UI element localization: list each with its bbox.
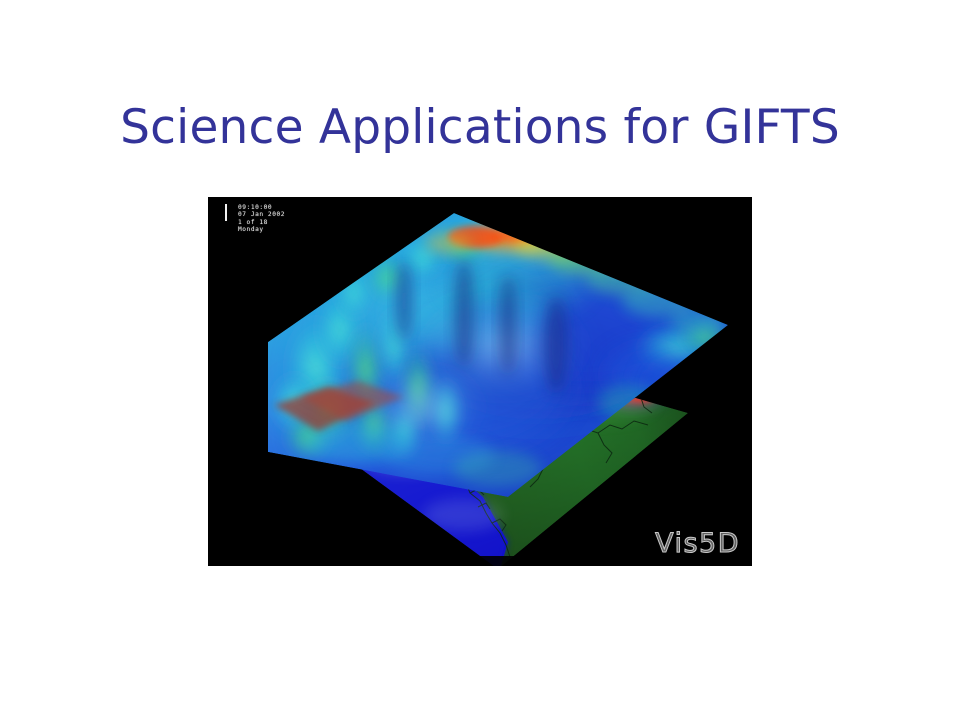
cloud-volume bbox=[268, 213, 736, 497]
vis5d-visualization-image: 09:10:00 07 Jan 2002 1 of 18 Monday Vis5… bbox=[208, 197, 752, 566]
cloud-shadow-seams bbox=[396, 259, 568, 393]
terrain-cross-section bbox=[274, 381, 404, 431]
overlay-weekday: Monday bbox=[238, 226, 285, 233]
timestamp-overlay: 09:10:00 07 Jan 2002 1 of 18 Monday bbox=[238, 204, 285, 234]
cloud-streaks-cyan bbox=[268, 227, 490, 463]
cloud-front-face bbox=[304, 423, 542, 487]
page-title: Science Applications for GIFTS bbox=[0, 104, 960, 151]
terrain-ground-plane bbox=[274, 349, 688, 566]
overlay-date: 07 Jan 2002 bbox=[238, 211, 285, 218]
presentation-slide: Science Applications for GIFTS bbox=[0, 0, 960, 720]
frame-tick-marker bbox=[225, 204, 227, 221]
ocean-region bbox=[328, 443, 508, 566]
volume-render-scene bbox=[208, 197, 752, 566]
ground-hotspot bbox=[578, 374, 674, 412]
map-boundaries bbox=[320, 377, 666, 557]
scene-vignette bbox=[208, 197, 752, 566]
cloud-hot-tops bbox=[426, 222, 726, 334]
cloud-streaks-right bbox=[598, 317, 736, 421]
vis5d-watermark: Vis5D bbox=[655, 528, 740, 559]
